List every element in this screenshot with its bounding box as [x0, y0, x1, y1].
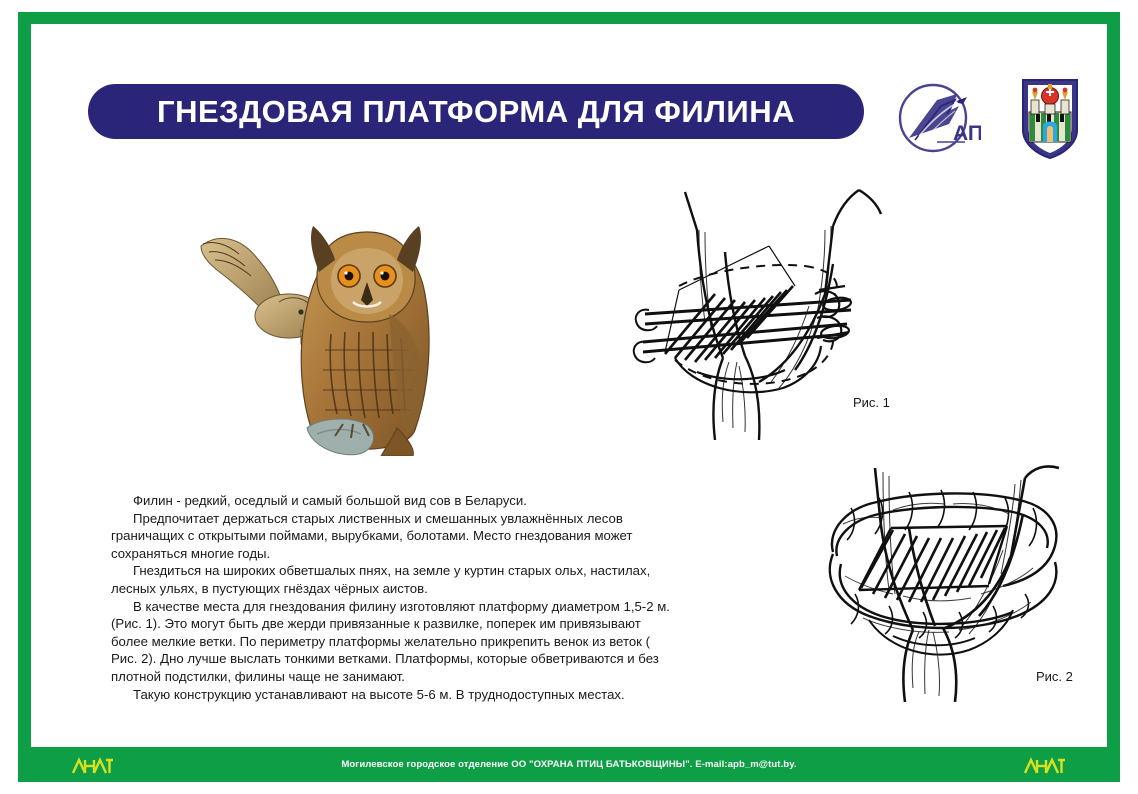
mogilev-coat-of-arms	[1019, 76, 1081, 160]
figure-1-caption: Рис. 1	[853, 395, 890, 410]
body-paragraph: Филин - редкий, оседлый и самый большой …	[111, 492, 671, 510]
body-paragraph: В качестве места для гнездования филину …	[111, 598, 671, 686]
apb-logo-icon: АПБ	[897, 80, 981, 160]
poster: ГНЕЗДОВАЯ ПЛАТФОРМА ДЛЯ ФИЛИНА АПБ	[0, 0, 1138, 794]
apb-logo-letters: АПБ	[953, 122, 981, 145]
eagle-owl-icon	[183, 174, 433, 456]
zigzag-emblem-icon	[70, 755, 116, 775]
page-title-text: ГНЕЗДОВАЯ ПЛАТФОРМА ДЛЯ ФИЛИНА	[157, 94, 795, 130]
zigzag-emblem-icon	[1022, 755, 1068, 775]
nest-platform-figure-2-icon	[793, 444, 1081, 702]
apb-logo: АПБ	[897, 80, 981, 160]
footer-text: Могилевское городское отделение ОО "ОХРА…	[341, 759, 796, 770]
zigzag-emblem	[70, 755, 116, 775]
zigzag-emblem	[1022, 755, 1068, 775]
body-text: Филин - редкий, оседлый и самый большой …	[111, 492, 671, 703]
green-frame: ГНЕЗДОВАЯ ПЛАТФОРМА ДЛЯ ФИЛИНА АПБ	[18, 12, 1120, 782]
perched-owl	[301, 226, 429, 456]
page-title: ГНЕЗДОВАЯ ПЛАТФОРМА ДЛЯ ФИЛИНА	[88, 84, 864, 139]
body-paragraph: Предпочитает держаться старых лиственных…	[111, 510, 671, 563]
eagle-owl-illustration	[183, 174, 433, 456]
nest-platform-figure-2	[793, 444, 1081, 702]
figure-2-caption: Рис. 2	[1036, 669, 1073, 684]
poster-content-area: ГНЕЗДОВАЯ ПЛАТФОРМА ДЛЯ ФИЛИНА АПБ	[31, 24, 1107, 747]
footer: Могилевское городское отделение ОО "ОХРА…	[18, 747, 1120, 782]
coat-of-arms-icon	[1019, 76, 1081, 160]
body-paragraph: Такую конструкцию устанавливают на высот…	[111, 686, 671, 704]
body-paragraph: Гнездиться на широких обветшалых пнях, н…	[111, 562, 671, 597]
